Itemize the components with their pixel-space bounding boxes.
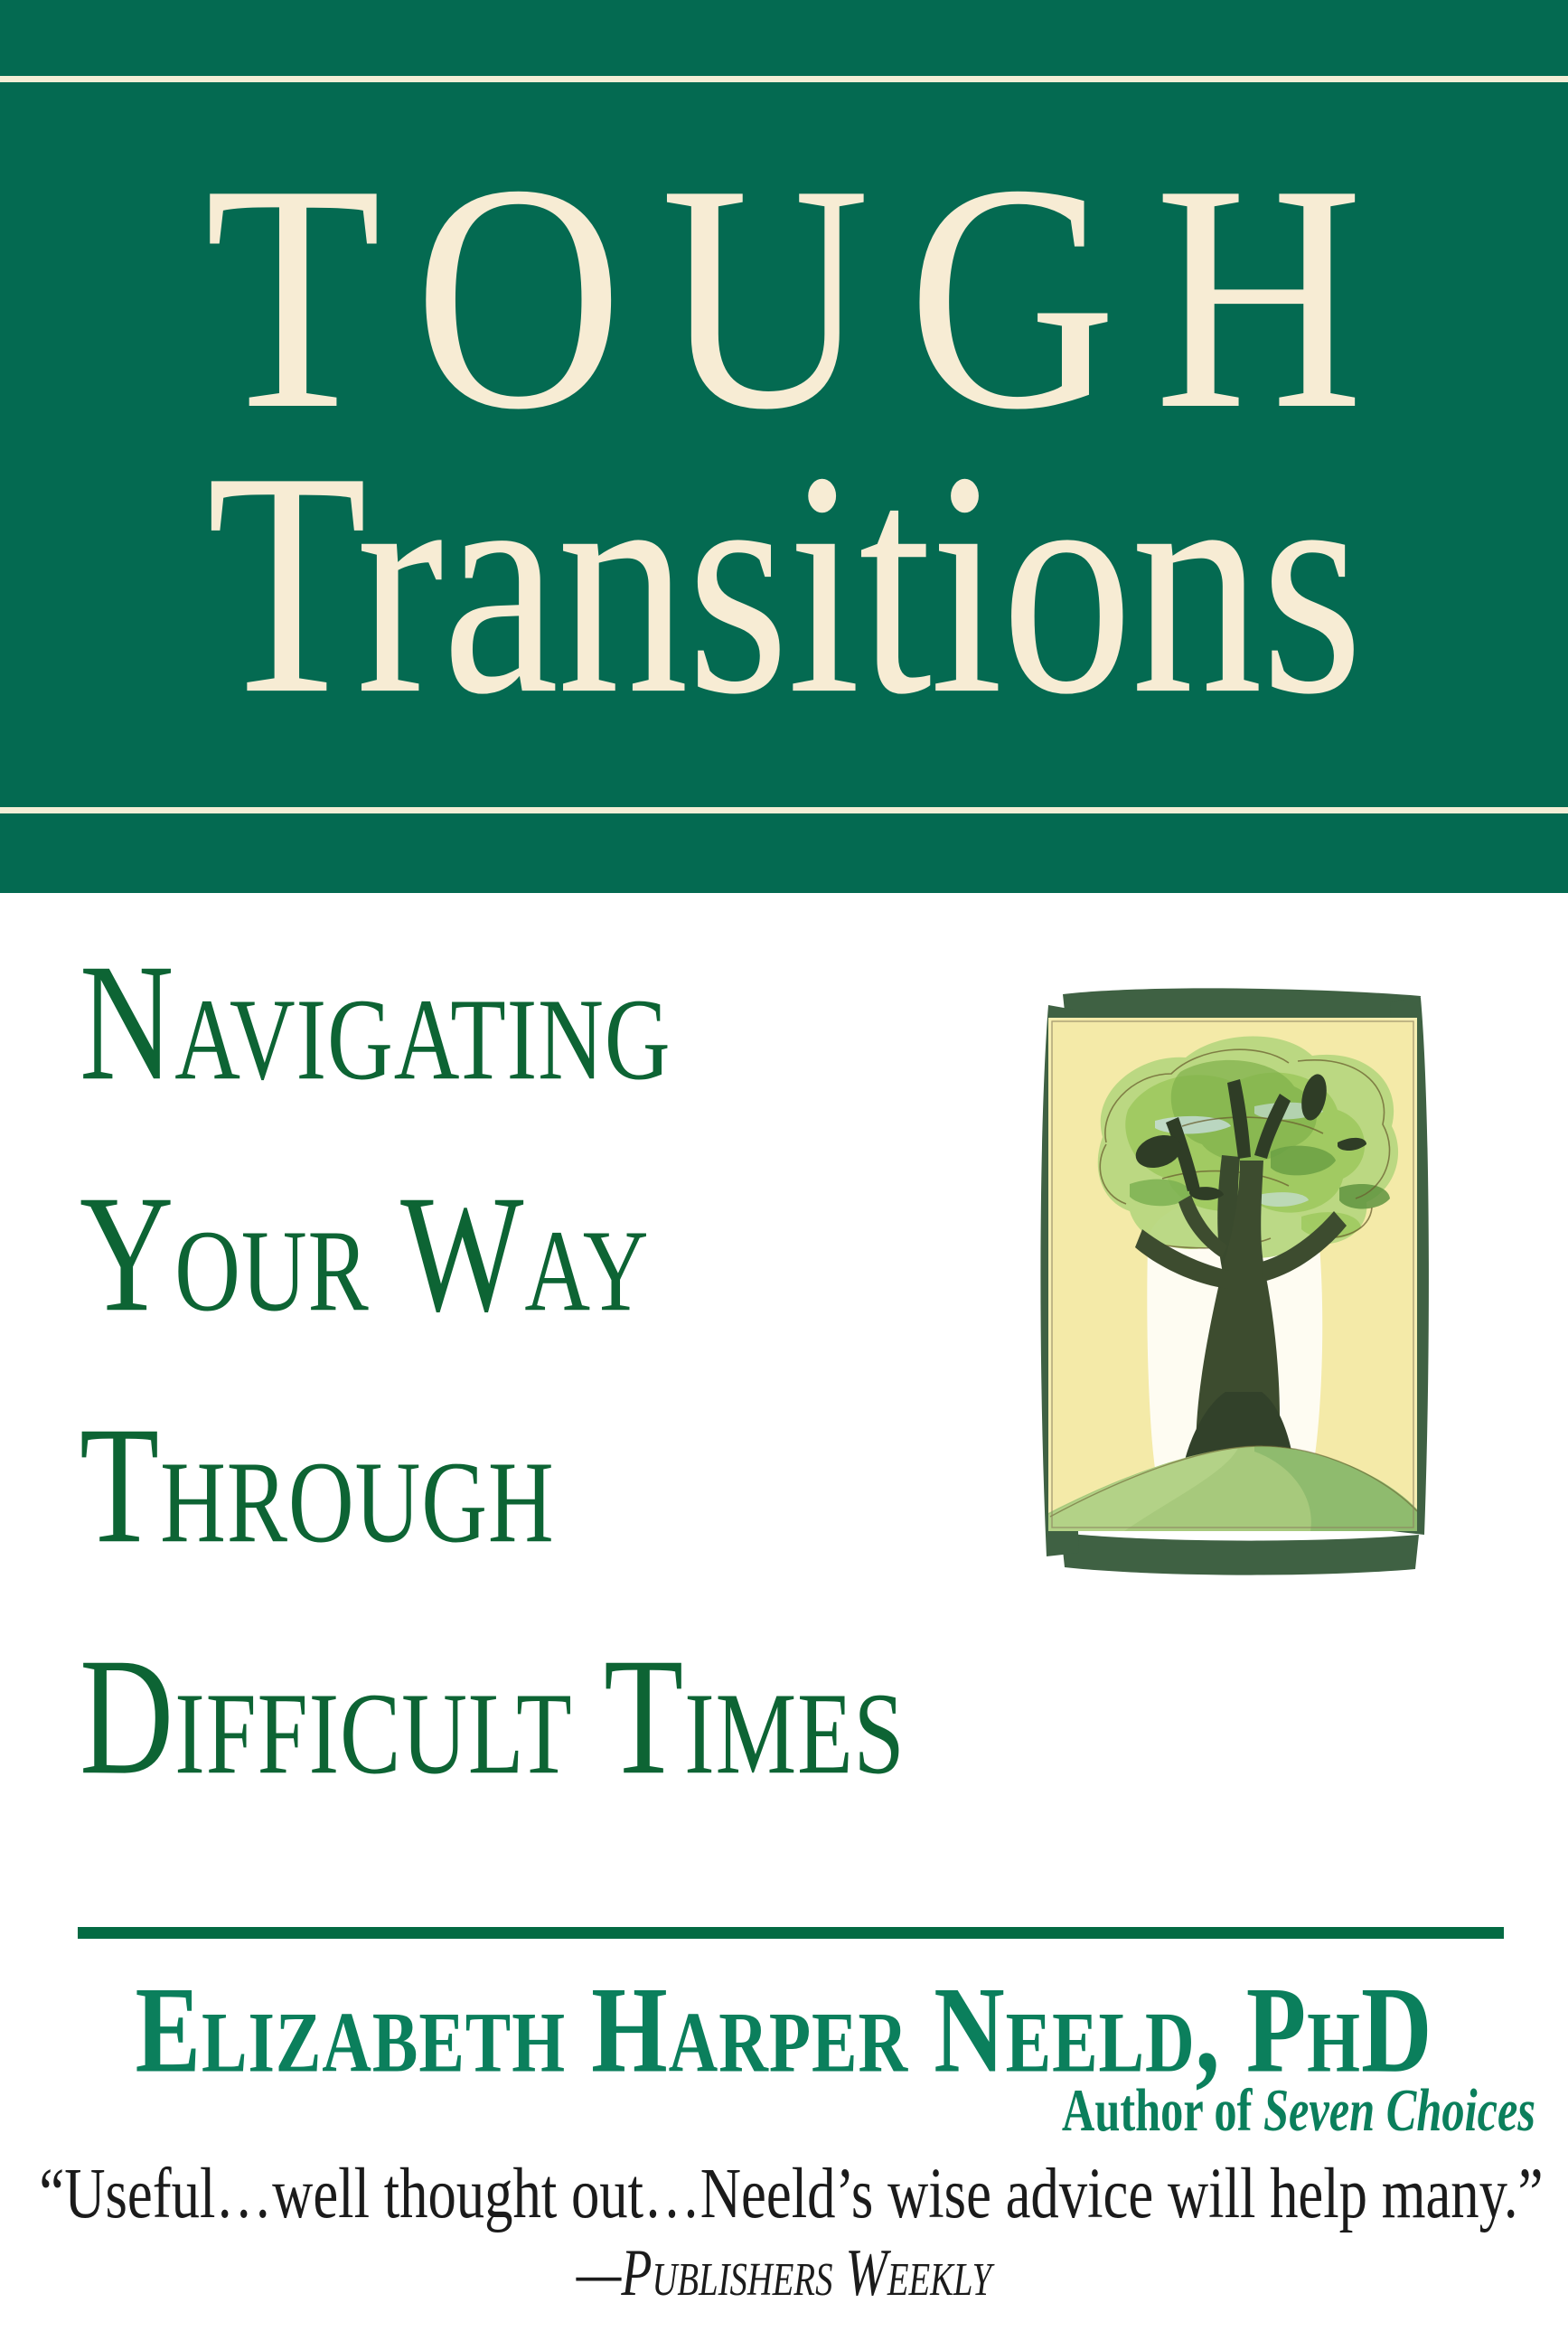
subtitle-line-2: Your Way [80, 1170, 955, 1337]
author-divider-rule [78, 1927, 1504, 1939]
book-cover: TOUGH Transitions Navigating Your Way Th… [0, 0, 1568, 2350]
panel-rule-bottom [0, 807, 1568, 813]
review-quote: “Useful…well thought out…Neeld’s wise ad… [39, 2158, 1528, 2230]
subtitle-line-1: Navigating [80, 938, 955, 1105]
book-title-line-2: Transitions [23, 423, 1545, 743]
panel-rule-top [0, 76, 1568, 82]
author-credit-prefix: Author of [1062, 2077, 1263, 2144]
book-subtitle: Navigating Your Way Through Difficult Ti… [80, 954, 1001, 1785]
author-credit: Author of Seven Choices [157, 2081, 1568, 2141]
review-source: —Publishers Weekly [79, 2240, 1490, 2307]
author-credit-work: Seven Choices [1263, 2077, 1535, 2144]
subtitle-line-3: Through [80, 1401, 955, 1568]
tree-illustration [1012, 974, 1455, 1589]
author-name: Elizabeth Harper Neeld, PhD [23, 1969, 1545, 2092]
subtitle-line-4: Difficult Times [80, 1632, 955, 1800]
